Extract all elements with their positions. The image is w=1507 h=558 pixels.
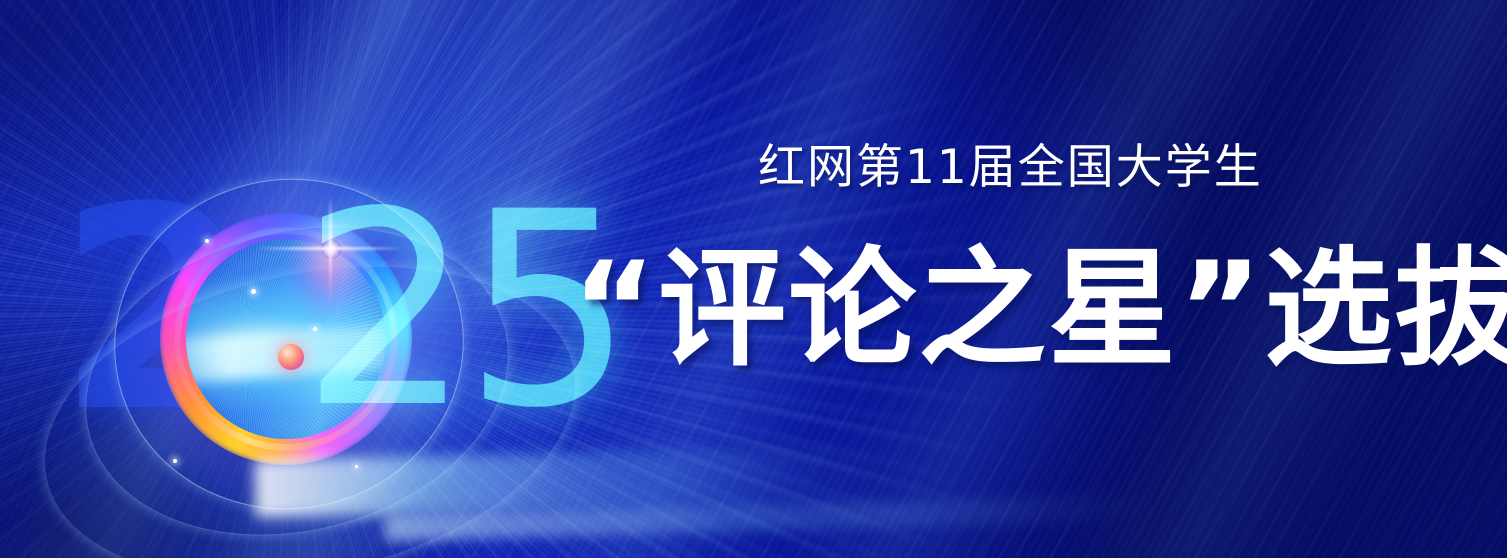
banner-text-block: 红网第11届全国大学生 “评论之星”选拔赛 <box>0 0 1507 558</box>
promo-banner: 2 25 红网第11届全国大学生 <box>0 0 1507 558</box>
banner-title: “评论之星”选拔赛 <box>572 240 1507 381</box>
banner-subtitle: 红网第11届全国大学生 <box>758 128 1263 197</box>
